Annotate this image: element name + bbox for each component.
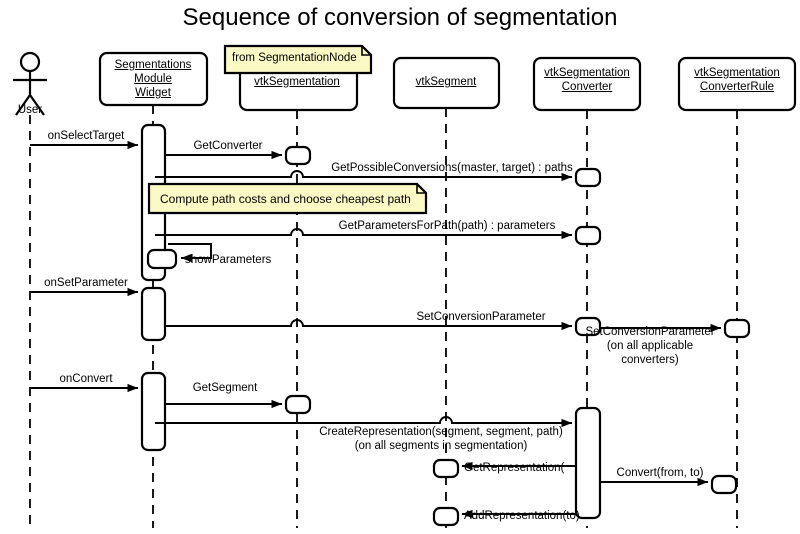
actor-label-user: User — [18, 104, 42, 116]
lifeline-title-widget-line3: Widget — [135, 87, 171, 99]
message-label-get-representation: GetRepresentation( — [464, 462, 564, 475]
activation-converterrule-1 — [725, 320, 749, 337]
activation-converter-2 — [576, 227, 600, 244]
message-label-get-converter: GetConverter — [193, 140, 262, 153]
lifeline-title-segment: vtkSegment — [416, 75, 477, 89]
lifeline-title-converterrule-line2: ConverterRule — [700, 81, 774, 93]
lifeline-title-segmentation: vtkSegmentation — [254, 75, 340, 89]
lifeline-title-converterrule-line1: vtkSegmentation — [694, 67, 780, 79]
lifeline-title-widget-line1: Segmentations — [115, 59, 192, 71]
message-label-create-representation-line1: CreateRepresentation(segment, segment, p… — [319, 425, 563, 439]
activation-segmentation-1 — [286, 147, 310, 164]
lifeline-title-converter-line1: vtkSegmentation — [544, 67, 630, 79]
activation-segmentation-2 — [286, 396, 310, 413]
message-label-set-conversion-parameter-rule-line1: SetConversionParameter — [585, 325, 714, 339]
activation-converter-4 — [576, 408, 600, 518]
message-label-create-representation: CreateRepresentation(segment, segment, p… — [319, 425, 563, 453]
message-label-get-segment: GetSegment — [193, 382, 258, 395]
lifeline-title-converter: vtkSegmentation Converter — [544, 66, 630, 94]
message-label-show-parameters: showParameters — [185, 254, 271, 267]
activation-segment-1 — [434, 460, 458, 477]
lifeline-title-converter-line2: Converter — [562, 81, 613, 93]
lifeline-title-segment-line1: vtkSegment — [416, 76, 477, 88]
message-label-set-conversion-parameter: SetConversionParameter — [416, 311, 545, 324]
message-label-convert: Convert(from, to) — [617, 467, 704, 480]
message-label-create-representation-line2: (on all segments in segmentation) — [319, 439, 563, 453]
note-text-compute-path-costs: Compute path costs and choose cheapest p… — [160, 192, 411, 206]
activation-widget-3 — [142, 373, 165, 450]
activation-converter-1 — [576, 169, 600, 186]
lifeline-title-widget: Segmentations Module Widget — [115, 58, 192, 100]
activation-segment-2 — [434, 508, 458, 525]
sequence-diagram-canvas: Sequence of conversion of segmentation — [0, 0, 800, 534]
note-text-from-segmentation-node: from SegmentationNode — [232, 52, 357, 64]
message-label-get-possible-conversions: GetPossibleConversions(master, target) :… — [331, 162, 573, 175]
message-label-set-conversion-parameter-rule: SetConversionParameter (on all applicabl… — [585, 325, 714, 367]
activation-widget-selfcall — [148, 250, 176, 268]
arrow-create-representation — [155, 417, 572, 423]
message-label-on-set-parameter: onSetParameter — [44, 277, 128, 290]
lifeline-title-segmentation-line1: vtkSegmentation — [254, 76, 340, 88]
lifeline-title-widget-line2: Module — [134, 73, 172, 85]
message-label-get-parameters-for-path: GetParametersForPath(path) : parameters — [339, 220, 556, 233]
message-label-on-select-target: onSelectTarget — [48, 130, 125, 143]
lifeline-title-converterrule: vtkSegmentation ConverterRule — [694, 66, 780, 94]
message-label-on-convert: onConvert — [59, 373, 112, 386]
message-label-set-conversion-parameter-rule-line3: converters) — [585, 353, 714, 367]
activation-converterrule-2 — [712, 476, 736, 493]
message-label-set-conversion-parameter-rule-line2: (on all applicable — [585, 339, 714, 353]
message-label-add-representation: AddRepresentation(to) — [464, 510, 580, 523]
activation-widget-2 — [142, 288, 165, 340]
